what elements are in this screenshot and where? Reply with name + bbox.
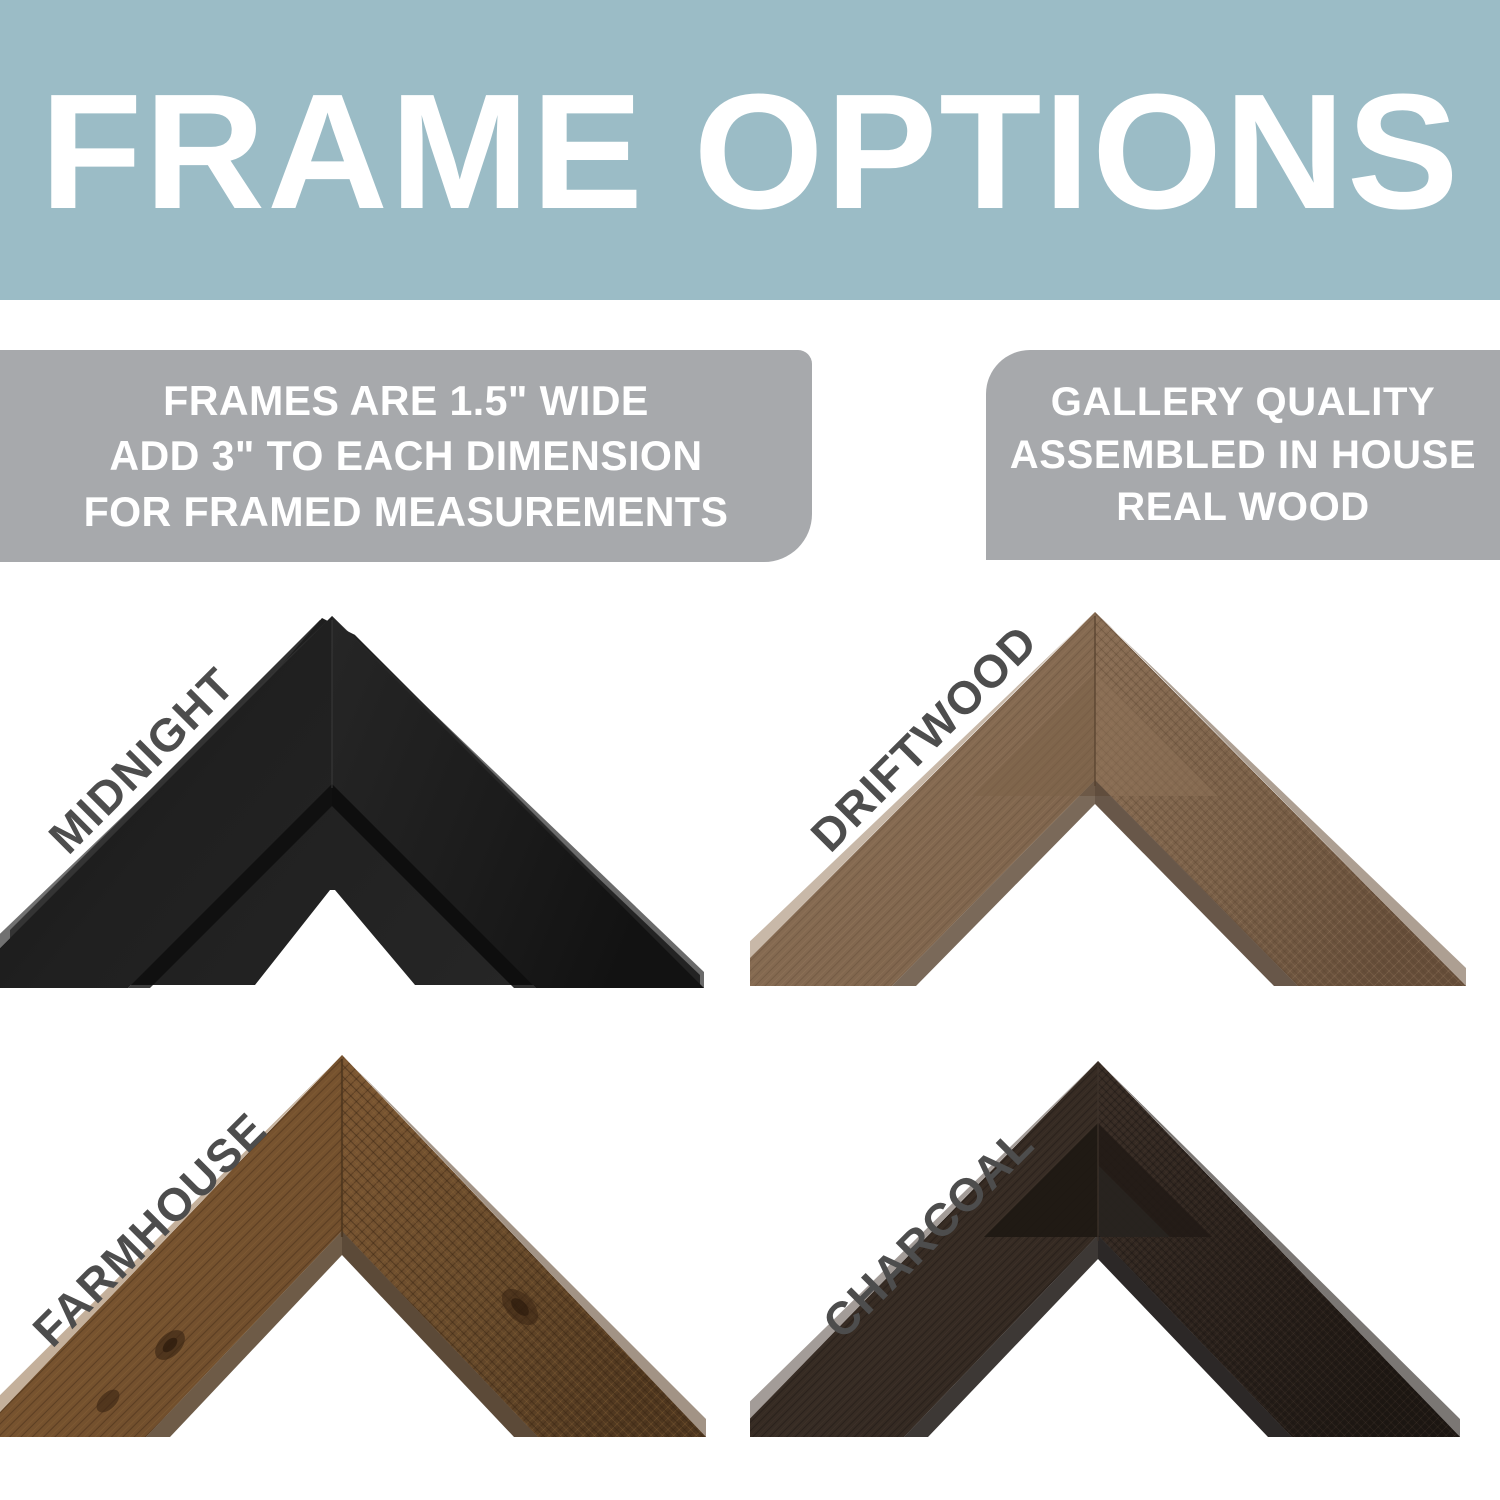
measurements-note-text: FRAMES ARE 1.5" WIDE ADD 3" TO EACH DIME… — [84, 373, 729, 539]
frame-corner-charcoal-icon — [750, 1045, 1500, 1460]
quality-note-text: GALLERY QUALITY ASSEMBLED IN HOUSE REAL … — [1010, 376, 1476, 534]
frame-sample-driftwood[interactable]: DRIFTWOOD — [750, 590, 1500, 1005]
page-title: FRAME OPTIONS — [40, 70, 1461, 234]
frame-sample-farmhouse[interactable]: FARMHOUSE — [0, 1045, 750, 1460]
frame-sample-charcoal[interactable]: CHARCOAL — [750, 1045, 1500, 1460]
frame-sample-midnight[interactable]: MIDNIGHT — [0, 590, 750, 1005]
info-box-measurements: FRAMES ARE 1.5" WIDE ADD 3" TO EACH DIME… — [0, 350, 812, 562]
info-box-quality: GALLERY QUALITY ASSEMBLED IN HOUSE REAL … — [986, 350, 1500, 560]
header-banner: FRAME OPTIONS — [0, 0, 1500, 300]
info-band: FRAMES ARE 1.5" WIDE ADD 3" TO EACH DIME… — [0, 350, 1500, 565]
frame-samples-grid: MIDNIGHT — [0, 590, 1500, 1420]
